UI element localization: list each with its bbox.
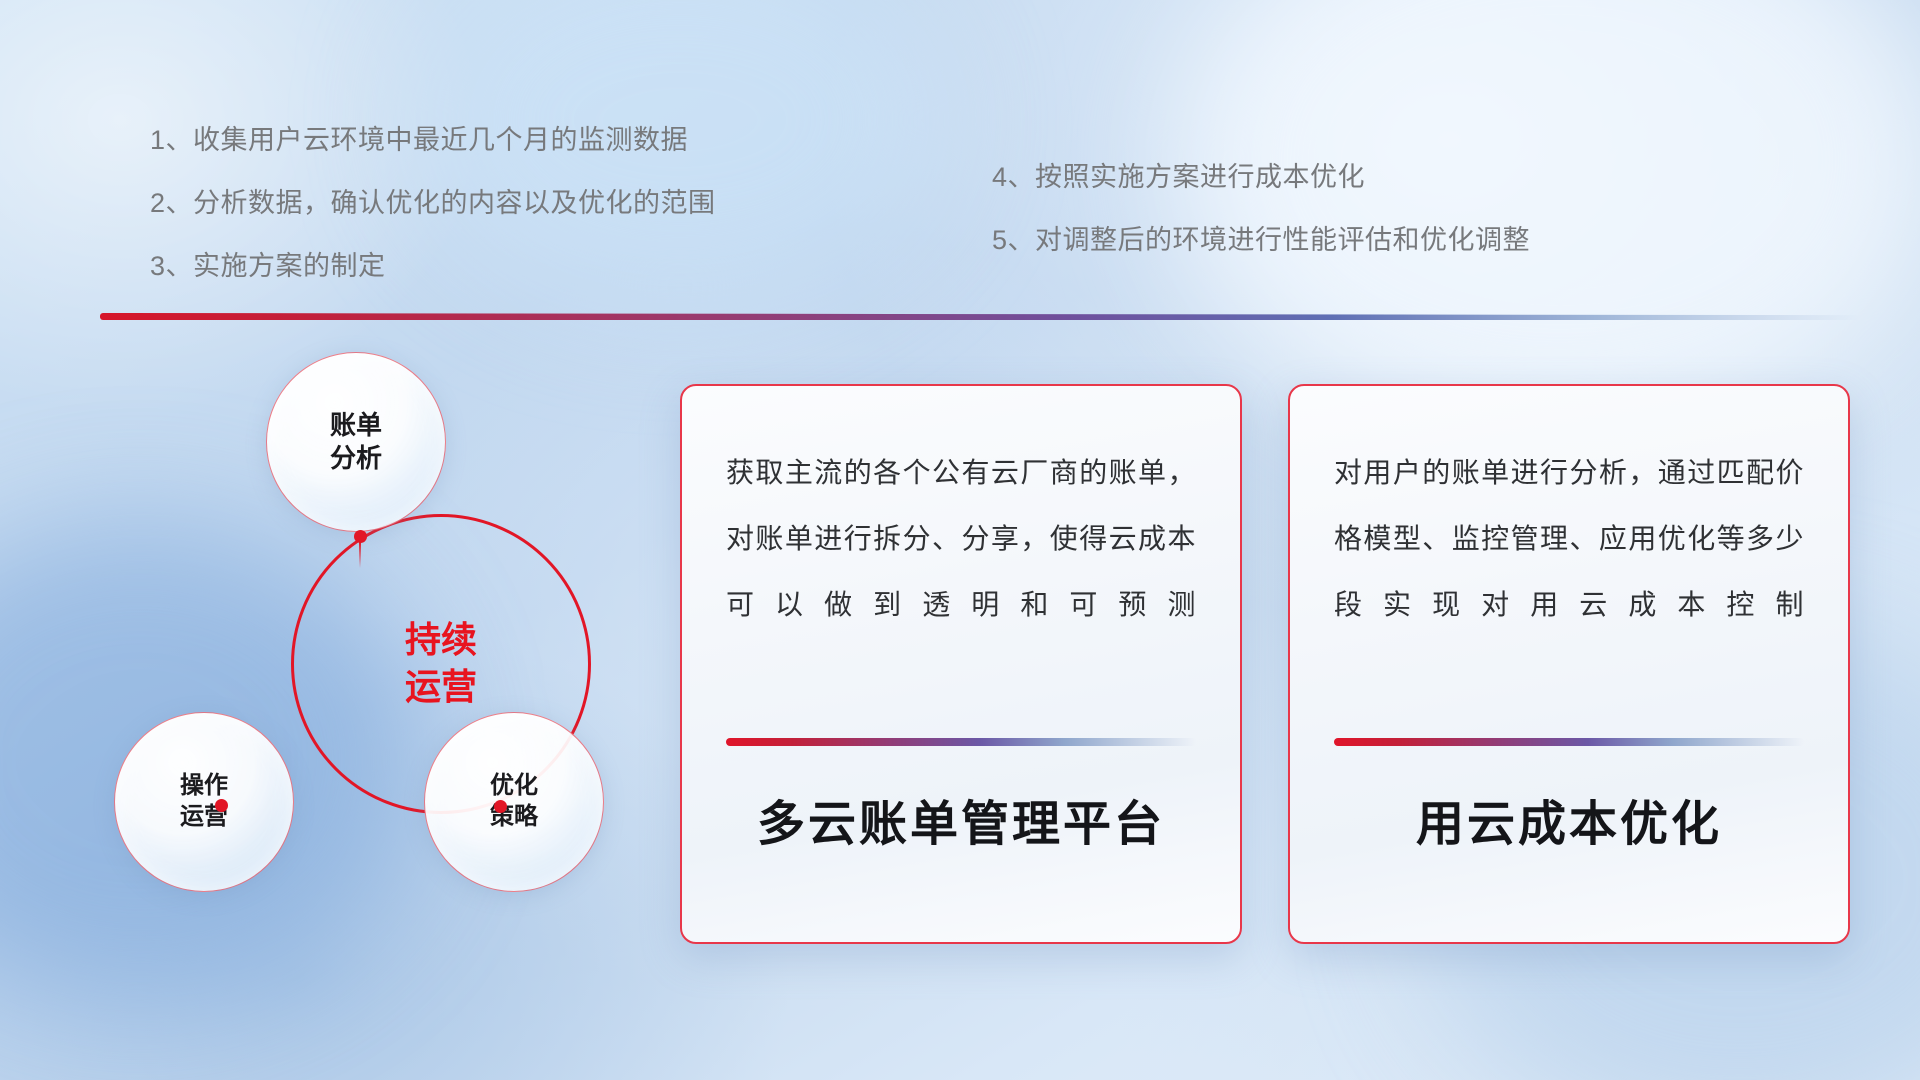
node-dot-bottom-right (494, 800, 507, 813)
bubble-optimization-strategy-line-1: 优化 (490, 771, 538, 802)
bubble-bill-analysis[interactable]: 账单 分析 (266, 352, 446, 532)
section-divider (100, 313, 1860, 320)
bubble-bill-analysis-line-2: 分析 (330, 442, 382, 475)
step-item-5: 5、对调整后的环境进行性能评估和优化调整 (992, 218, 1530, 257)
node-dot-bottom-left (215, 799, 228, 812)
connector-tail-top (359, 542, 361, 568)
bubble-operation-line-1: 操作 (180, 771, 228, 802)
step-item-2: 2、分析数据，确认优化的内容以及优化的范围 (150, 181, 716, 220)
step-item-1: 1、收集用户云环境中最近几个月的监测数据 (150, 118, 716, 157)
bubble-operation[interactable]: 操作 运营 (114, 712, 294, 892)
card-title: 多云账单管理平台 (682, 784, 1240, 854)
node-dot-top (354, 530, 367, 543)
center-label-line-1: 持续 (405, 617, 477, 664)
center-label-line-2: 运营 (405, 664, 477, 711)
bubble-bill-analysis-line-1: 账单 (330, 409, 382, 442)
card-multi-cloud-bill-platform[interactable]: 获取主流的各个公有云厂商的账单，对账单进行拆分、分享，使得云成本可以做到透明和可… (680, 384, 1242, 944)
card-accent-rule (726, 738, 1196, 746)
steps-left-column: 1、收集用户云环境中最近几个月的监测数据 2、分析数据，确认优化的内容以及优化的… (150, 118, 716, 307)
card-body-text: 对用户的账单进行分析，通过匹配价格模型、监控管理、应用优化等多少段实现对用云成本… (1334, 440, 1804, 637)
steps-right-column: 4、按照实施方案进行成本优化 5、对调整后的环境进行性能评估和优化调整 (992, 155, 1530, 281)
card-accent-rule (1334, 738, 1804, 746)
card-body-text: 获取主流的各个公有云厂商的账单，对账单进行拆分、分享，使得云成本可以做到透明和可… (726, 440, 1196, 637)
card-cloud-cost-optimization[interactable]: 对用户的账单进行分析，通过匹配价格模型、监控管理、应用优化等多少段实现对用云成本… (1288, 384, 1850, 944)
continuous-operation-diagram: 持续 运营 账单 分析 操作 运营 优化 策略 (96, 352, 656, 952)
step-item-3: 3、实施方案的制定 (150, 244, 716, 283)
card-title: 用云成本优化 (1290, 784, 1848, 854)
bubble-optimization-strategy[interactable]: 优化 策略 (424, 712, 604, 892)
step-item-4: 4、按照实施方案进行成本优化 (992, 155, 1530, 194)
slide-canvas: 1、收集用户云环境中最近几个月的监测数据 2、分析数据，确认优化的内容以及优化的… (0, 0, 1920, 1080)
